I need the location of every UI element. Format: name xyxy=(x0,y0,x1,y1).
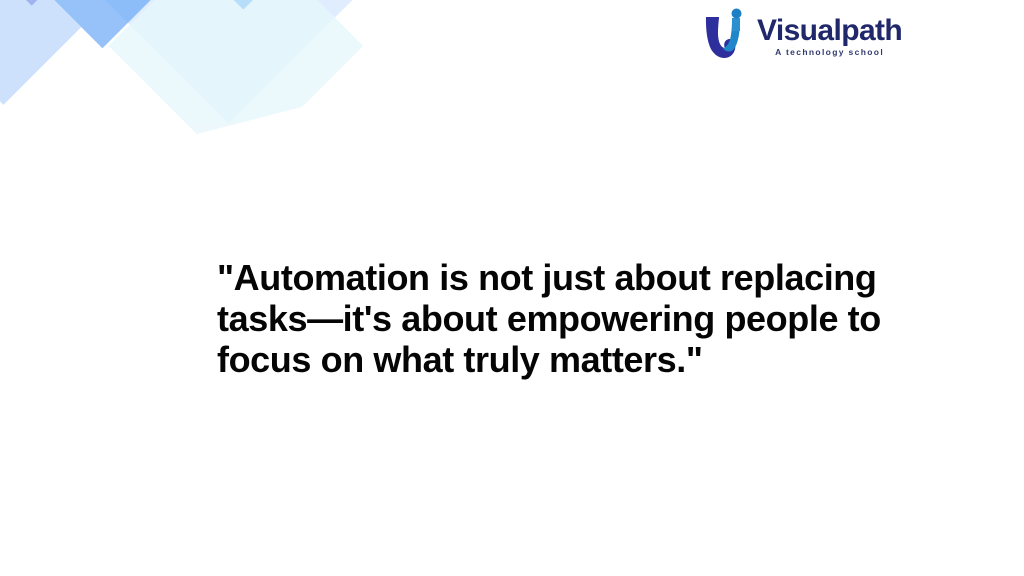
visualpath-v-person-logo-icon xyxy=(701,8,753,64)
quote-block: "Automation is not just about replacing … xyxy=(217,257,907,380)
logo-wordmark: Visualpath xyxy=(757,16,902,46)
logo-tagline: A technology school xyxy=(757,47,902,58)
logo-text-block: Visualpath A technology school xyxy=(757,6,902,58)
quote-line-2: tasks—it's about empowering people to xyxy=(217,298,907,339)
quote-line-1: "Automation is not just about replacing xyxy=(217,257,907,298)
slide-canvas: Visualpath A technology school "Automati… xyxy=(0,0,1024,576)
quote-line-3: focus on what truly matters." xyxy=(217,339,907,380)
brand-logo: Visualpath A technology school xyxy=(701,6,876,68)
